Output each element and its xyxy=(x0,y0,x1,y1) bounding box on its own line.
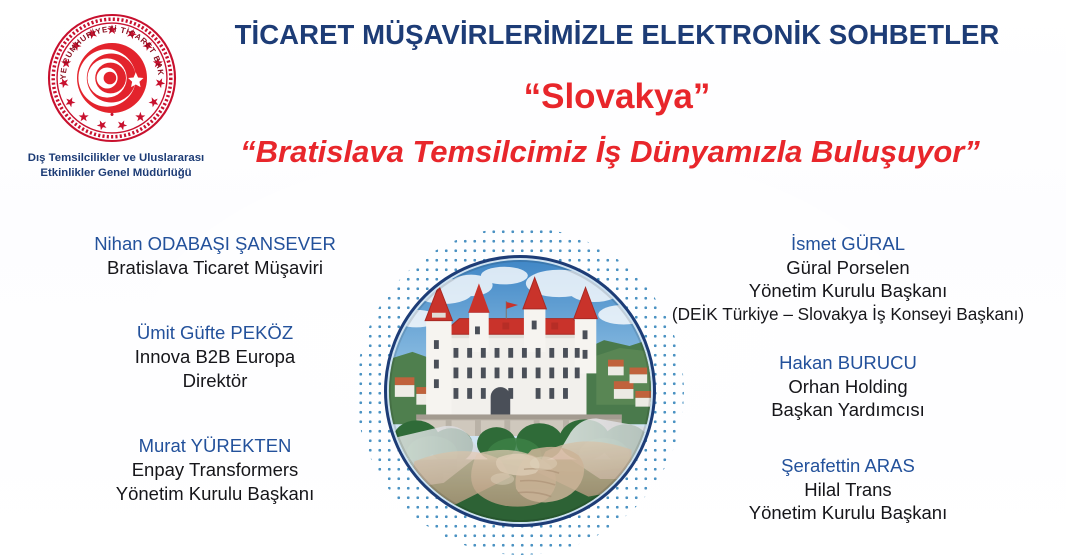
speaker-name: Hakan BURUCU xyxy=(648,351,1048,375)
speaker-org: Innova B2B Europa xyxy=(34,345,396,369)
speaker-name: Murat YÜREKTEN xyxy=(34,434,396,458)
speaker-org: Hilal Trans xyxy=(648,478,1048,502)
spacer xyxy=(648,422,1048,454)
event-subtitle: “Bratislava Temsilcimiz İş Dünyamızla Bu… xyxy=(160,136,1060,169)
speaker-title: Yönetim Kurulu Başkanı xyxy=(648,279,1048,303)
speaker-org: Orhan Holding xyxy=(648,375,1048,399)
spacer xyxy=(34,392,396,434)
speaker-org: Güral Porselen xyxy=(648,256,1048,280)
page-title: TİCARET MÜŞAVİRLERİMİZLE ELEKTRONİK SOHB… xyxy=(186,21,1048,50)
speaker-card: Hakan BURUCU Orhan Holding Başkan Yardım… xyxy=(648,351,1048,422)
speaker-title: Başkan Yardımcısı xyxy=(648,398,1048,422)
ministry-logo: TÜRKİYE CUMHURİYETİ TİCARET BAKANLIĞI Dı… xyxy=(18,8,208,193)
speaker-title: Yönetim Kurulu Başkanı xyxy=(648,501,1048,525)
speaker-name: Nihan ODABAŞI ŞANSEVER xyxy=(34,232,396,256)
speaker-name: Ümit Güfte PEKÖZ xyxy=(34,321,396,345)
speaker-list-right: İsmet GÜRAL Güral Porselen Yönetim Kurul… xyxy=(648,232,1048,525)
speaker-note: (DEİK Türkiye – Slovakya İş Konseyi Başk… xyxy=(648,303,1048,325)
spacer xyxy=(648,325,1048,351)
logo-caption-line2: Etkinlikler Genel Müdürlüğü xyxy=(18,166,214,181)
speaker-card: İsmet GÜRAL Güral Porselen Yönetim Kurul… xyxy=(648,232,1048,325)
speaker-card: Şerafettin ARAS Hilal Trans Yönetim Kuru… xyxy=(648,454,1048,525)
turkish-ministry-of-trade-emblem-icon: TÜRKİYE CUMHURİYETİ TİCARET BAKANLIĞI xyxy=(42,8,182,148)
speaker-org: Enpay Transformers xyxy=(34,458,396,482)
speaker-name: Şerafettin ARAS xyxy=(648,454,1048,478)
speaker-card: Murat YÜREKTEN Enpay Transformers Yöneti… xyxy=(34,434,396,505)
bratislava-castle-handshake-photo xyxy=(384,255,656,527)
speaker-name: İsmet GÜRAL xyxy=(648,232,1048,256)
logo-caption: Dış Temsilcilikler ve Uluslararası Etkin… xyxy=(18,151,214,180)
speaker-card: Ümit Güfte PEKÖZ Innova B2B Europa Direk… xyxy=(34,321,396,392)
speaker-title: Direktör xyxy=(34,369,396,393)
speaker-title: Yönetim Kurulu Başkanı xyxy=(34,482,396,506)
country-title: “Slovakya” xyxy=(186,79,1048,116)
speaker-title: Bratislava Ticaret Müşaviri xyxy=(34,256,396,280)
spacer xyxy=(34,279,396,321)
speaker-list-left: Nihan ODABAŞI ŞANSEVER Bratislava Ticare… xyxy=(34,232,396,505)
poster-canvas: TÜRKİYE CUMHURİYETİ TİCARET BAKANLIĞI Dı… xyxy=(0,0,1066,557)
logo-caption-line1: Dış Temsilcilikler ve Uluslararası xyxy=(18,151,214,166)
center-media xyxy=(384,255,656,527)
speaker-card: Nihan ODABAŞI ŞANSEVER Bratislava Ticare… xyxy=(34,232,396,279)
